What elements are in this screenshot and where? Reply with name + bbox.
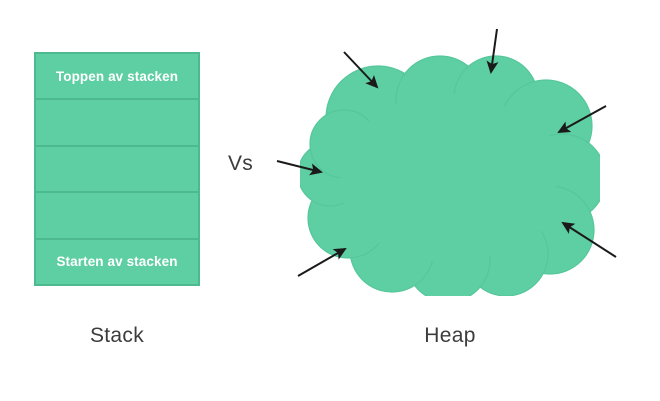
stack-figure: Toppen av stacken Starten av stacken xyxy=(34,52,200,286)
cloud-core-fill xyxy=(344,118,556,240)
stack-cell-top-label: Toppen av stacken xyxy=(56,69,178,84)
stack-cell-bottom-label: Starten av stacken xyxy=(56,254,177,269)
diagram-canvas: Toppen av stacken Starten av stacken Vs xyxy=(0,0,660,401)
cloud-shape-group xyxy=(300,56,600,296)
vs-comparator-label: Vs xyxy=(228,152,253,176)
stack-cell-empty-2 xyxy=(36,147,198,193)
stack-cell-top: Toppen av stacken xyxy=(36,54,198,100)
heap-caption: Heap xyxy=(370,324,530,348)
stack-cell-bottom: Starten av stacken xyxy=(36,240,198,284)
stack-caption: Stack xyxy=(34,324,200,348)
stack-table: Toppen av stacken Starten av stacken xyxy=(34,52,200,286)
heap-cloud-figure xyxy=(300,48,600,296)
stack-cell-empty-3 xyxy=(36,193,198,239)
stack-cell-empty-1 xyxy=(36,100,198,146)
